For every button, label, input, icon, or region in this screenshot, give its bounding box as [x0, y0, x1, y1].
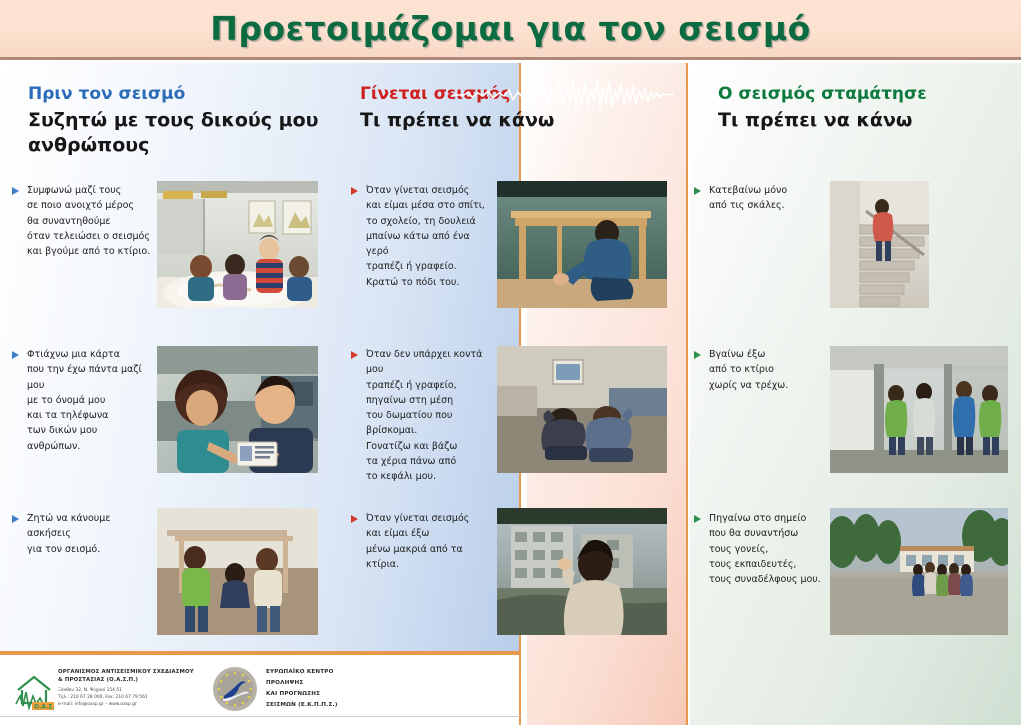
list-item: Όταν γίνεται σεισμός και είμαι έξω μένω … [351, 511, 491, 572]
ekpps-org-block: ΕΥΡΩΠΑΪΚΟ ΚΕΝΤΡΟ ΠΡΟΛΗΨΗΣ ΚΑΙ ΠΡΟΓΝΩΣΗΣ … [266, 667, 396, 711]
poster-root: Προετοιμάζομαι για τον σεισμό Πριν τον σ… [0, 0, 1021, 725]
bullet-arrow-icon [694, 515, 702, 525]
list-item-text: Ζητώ να κάνουμε ασκήσεις για τον σεισμό. [27, 511, 152, 557]
oasp-house-seismograph-logo: Ο.Α.Σ.Π. [14, 672, 54, 710]
heading-after-earthquake: Ο σεισμός σταμάτησε Τι πρέπει να κάνω [718, 84, 1018, 133]
list-item-text: Όταν γίνεται σεισμός και είμαι μέσα στο … [366, 183, 491, 290]
heading-during-earthquake: Γίνεται σεισμός Τι πρέπει να κάνω [360, 84, 660, 133]
photo-emergency-card [157, 346, 318, 473]
list-item-text: Συμφωνώ μαζί τους σε ποιο ανοιχτό μέρος … [27, 183, 150, 259]
kicker-before: Πριν τον σεισμό [28, 84, 328, 104]
photo-holding-table-leg [497, 181, 667, 308]
photo-exiting-building [830, 346, 1008, 473]
bullet-arrow-icon [12, 187, 20, 197]
list-item-text: Πηγαίνω στο σημείο που θα συναντήσω τους… [709, 511, 821, 587]
bullet-arrow-icon [351, 515, 359, 525]
kicker-during: Γίνεται σεισμός [360, 84, 660, 104]
list-item: Όταν δεν υπάρχει κοντά μου τραπέζι ή γρα… [351, 347, 491, 485]
list-item-text: Κατεβαίνω μόνο από τις σκάλες. [709, 183, 787, 214]
subhead-during: Τι πρέπει να κάνω [360, 108, 660, 132]
list-item: Συμφωνώ μαζί τους σε ποιο ανοιχτό μέρος … [12, 183, 152, 259]
photo-walking-down-stairs [830, 181, 929, 308]
bullet-arrow-icon [12, 515, 20, 525]
photo-meeting-point-schoolyard [830, 508, 1008, 635]
list-item-text: Φτιάχνω μια κάρτα που την έχω πάντα μαζί… [27, 347, 152, 454]
footer-divider [0, 716, 521, 717]
list-item: Κατεβαίνω μόνο από τις σκάλες. [694, 183, 826, 214]
bullet-arrow-icon [12, 351, 20, 361]
subhead-after: Τι πρέπει να κάνω [718, 108, 1018, 132]
photo-outdoors-away-from-buildings [497, 508, 667, 635]
list-item-text: Όταν δεν υπάρχει κοντά μου τραπέζι ή γρα… [366, 347, 491, 485]
page-title: Προετοιμάζομαι για τον σεισμό [210, 9, 811, 48]
subhead-before: Συζητώ με τους δικούς μου ανθρώπους [28, 108, 328, 157]
oasp-org-address: Ξάνθου 32, Ν. Ψυχικό 154 51 Τηλ.: 210 67… [58, 687, 203, 708]
bullet-arrow-icon [351, 187, 359, 197]
svg-text:Ο.Α.Σ.Π.: Ο.Α.Σ.Π. [34, 704, 54, 711]
oasp-org-title: ΟΡΓΑΝΙΣΜΟΣ ΑΝΤΙΣΕΙΣΜΙΚΟΥ ΣΧΕΔΙΑΣΜΟΥ & ΠΡ… [58, 668, 203, 685]
kicker-after: Ο σεισμός σταμάτησε [718, 84, 1018, 104]
bullet-arrow-icon [694, 187, 702, 197]
list-item: Πηγαίνω στο σημείο που θα συναντήσω τους… [694, 511, 826, 587]
list-item: Όταν γίνεται σεισμός και είμαι μέσα στο … [351, 183, 491, 290]
list-item: Ζητώ να κάνουμε ασκήσεις για τον σεισμό. [12, 511, 152, 557]
list-item-text: Βγαίνω έξω από το κτίριο χωρίς να τρέχω. [709, 347, 788, 393]
poster-title-bar: Προετοιμάζομαι για τον σεισμό [0, 0, 1021, 60]
bullet-arrow-icon [694, 351, 702, 361]
ekpps-org-title: ΕΥΡΩΠΑΪΚΟ ΚΕΝΤΡΟ ΠΡΟΛΗΨΗΣ ΚΑΙ ΠΡΟΓΝΩΣΗΣ … [266, 667, 396, 711]
oasp-org-block: ΟΡΓΑΝΙΣΜΟΣ ΑΝΤΙΣΕΙΣΜΙΚΟΥ ΣΧΕΔΙΑΣΜΟΥ & ΠΡ… [58, 668, 203, 708]
bullet-arrow-icon [351, 351, 359, 361]
heading-before-earthquake: Πριν τον σεισμό Συζητώ με τους δικούς μο… [28, 84, 328, 157]
photo-earthquake-drill [157, 508, 318, 635]
list-item-text: Όταν γίνεται σεισμός και είμαι έξω μένω … [366, 511, 491, 572]
photo-kneeling-cover-head [497, 346, 667, 473]
photo-family-discussion [157, 181, 318, 308]
ekpps-eu-circle-logo [212, 666, 258, 712]
list-item: Βγαίνω έξω από το κτίριο χωρίς να τρέχω. [694, 347, 826, 393]
list-item: Φτιάχνω μια κάρτα που την έχω πάντα μαζί… [12, 347, 152, 454]
